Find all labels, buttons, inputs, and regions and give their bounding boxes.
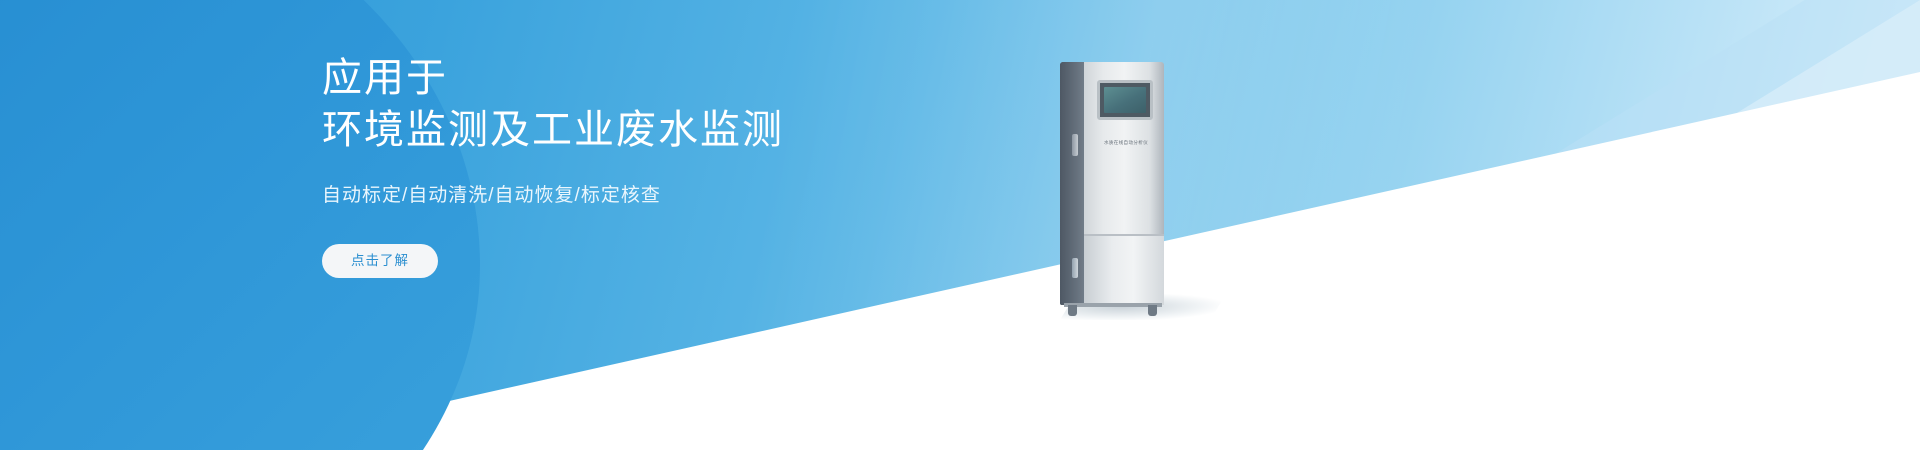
device-lower-cabinet	[1084, 236, 1164, 305]
device-label-text: 水质在线自动分析仪	[1090, 140, 1162, 146]
hero-subtitle: 自动标定/自动清洗/自动恢复/标定核查	[322, 182, 962, 210]
device-lower-handle	[1072, 258, 1078, 278]
device-foot-left	[1068, 305, 1077, 316]
hero-banner: 应用于 环境监测及工业废水监测 自动标定/自动清洗/自动恢复/标定核查 点击了解…	[0, 0, 1920, 450]
learn-more-button[interactable]: 点击了解	[322, 244, 438, 278]
headline-line-2: 环境监测及工业废水监测	[322, 104, 962, 156]
hero-copy-block: 应用于 环境监测及工业废水监测 自动标定/自动清洗/自动恢复/标定核查 点击了解	[322, 52, 962, 278]
headline-line-1: 应用于	[322, 52, 962, 104]
analyzer-device-image: 水质在线自动分析仪	[1060, 62, 1180, 317]
device-upper-handle	[1072, 134, 1078, 156]
device-display-screen	[1097, 80, 1153, 120]
device-screen-glass	[1104, 87, 1146, 113]
device-foot-right	[1148, 305, 1157, 316]
